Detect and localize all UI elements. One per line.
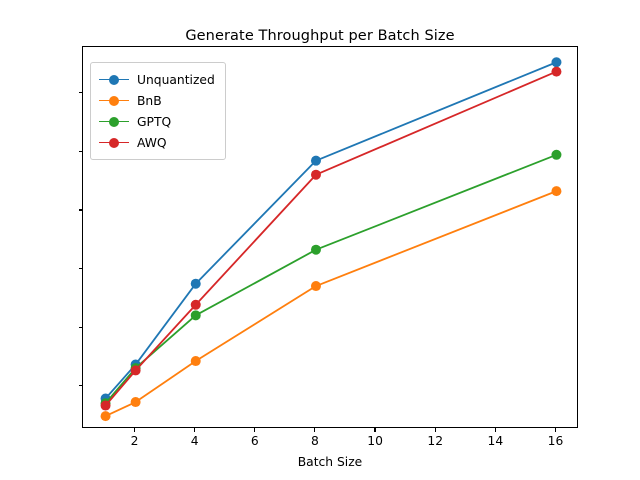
data-point <box>101 401 111 411</box>
data-point <box>191 279 201 289</box>
chart-title: Generate Throughput per Batch Size <box>0 28 640 44</box>
data-point <box>551 150 561 160</box>
legend-marker-icon <box>99 94 129 108</box>
data-point <box>551 67 561 77</box>
data-point <box>551 186 561 196</box>
x-tick-label: 14 <box>465 434 525 448</box>
chart-legend: UnquantizedBnBGPTQAWQ <box>90 62 226 160</box>
x-tick-label: 4 <box>165 434 225 448</box>
data-point <box>311 170 321 180</box>
data-point <box>101 411 111 421</box>
legend-label: BnB <box>137 94 162 108</box>
data-point <box>131 397 141 407</box>
legend-item-gptq[interactable]: GPTQ <box>99 111 215 132</box>
data-point <box>191 300 201 310</box>
legend-item-awq[interactable]: AWQ <box>99 132 215 153</box>
chart-figure: Generate Throughput per Batch Size Gener… <box>0 0 640 480</box>
legend-label: AWQ <box>137 136 167 150</box>
legend-label: Unquantized <box>137 73 215 87</box>
legend-marker-icon <box>99 73 129 87</box>
x-tick-label: 10 <box>345 434 405 448</box>
data-point <box>311 156 321 166</box>
data-point <box>191 356 201 366</box>
data-point <box>131 365 141 375</box>
legend-label: GPTQ <box>137 115 171 129</box>
x-tick-label: 16 <box>525 434 585 448</box>
series-bnb <box>101 186 562 421</box>
legend-item-unquantized[interactable]: Unquantized <box>99 69 215 90</box>
data-point <box>311 245 321 255</box>
legend-marker-icon <box>99 115 129 129</box>
legend-item-bnb[interactable]: BnB <box>99 90 215 111</box>
x-axis-label: Batch Size <box>82 455 578 469</box>
series-line <box>106 155 557 403</box>
x-tick-label: 2 <box>105 434 165 448</box>
series-gptq <box>101 150 562 408</box>
legend-marker-icon <box>99 136 129 150</box>
series-line <box>106 191 557 416</box>
data-point <box>311 281 321 291</box>
data-point <box>551 57 561 67</box>
x-tick-label: 8 <box>285 434 345 448</box>
x-tick-label: 6 <box>225 434 285 448</box>
x-tick-label: 12 <box>405 434 465 448</box>
data-point <box>191 310 201 320</box>
